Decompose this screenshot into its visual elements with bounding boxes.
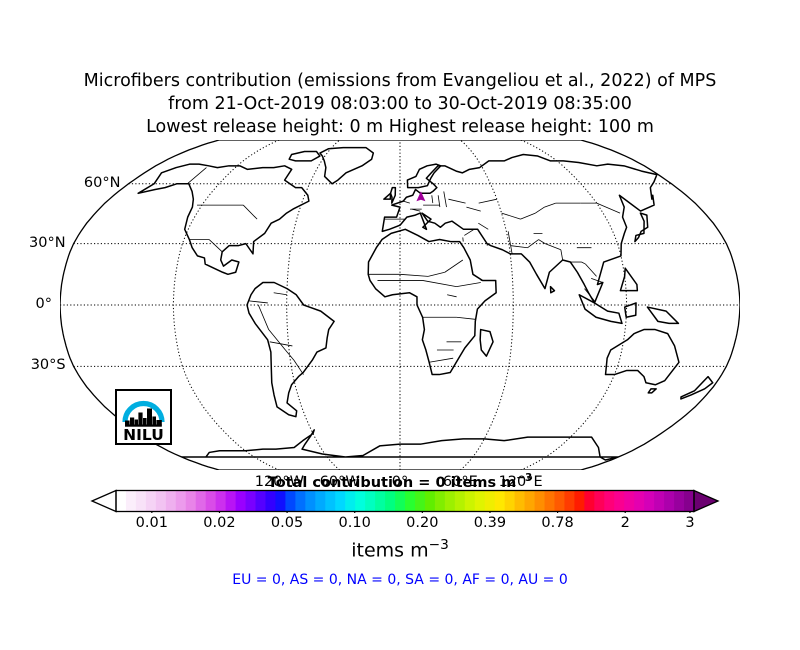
colorbar-segment bbox=[305, 491, 315, 512]
colorbar-segment bbox=[475, 491, 485, 512]
colorbar-units-exponent: −3 bbox=[429, 537, 449, 553]
nilu-logo: NILU bbox=[115, 389, 172, 445]
colorbar-segment bbox=[405, 491, 415, 512]
colorbar-tick-label: 3 bbox=[685, 515, 694, 531]
colorbar-segment bbox=[186, 491, 196, 512]
colorbar-segment bbox=[415, 491, 425, 512]
lat-label-30n: 30°N bbox=[29, 235, 66, 251]
colorbar-segment bbox=[176, 491, 186, 512]
colorbar-units-text: items m bbox=[351, 539, 428, 561]
colorbar-segment bbox=[166, 491, 176, 512]
colorbar-segment bbox=[425, 491, 435, 512]
lat-label-30s: 30°S bbox=[31, 357, 66, 373]
title-line-2: from 21-Oct-2019 08:03:00 to 30-Oct-2019… bbox=[0, 93, 800, 116]
colorbar-tick-label: 0.05 bbox=[271, 515, 303, 531]
colorbar-segment bbox=[345, 491, 355, 512]
nilu-logo-graphic: NILU bbox=[117, 391, 170, 443]
colorbar-segment bbox=[594, 491, 604, 512]
colorbar-segment bbox=[375, 491, 385, 512]
title-line-3: Lowest release height: 0 m Highest relea… bbox=[0, 116, 800, 139]
colorbar-segment bbox=[395, 491, 405, 512]
colorbar-segment bbox=[285, 491, 295, 512]
colorbar-segment bbox=[455, 491, 465, 512]
colorbar-segment bbox=[385, 491, 395, 512]
colorbar-segment bbox=[614, 491, 624, 512]
title-line-1: Microfibers contribution (emissions from… bbox=[0, 70, 800, 93]
colorbar-segment bbox=[246, 491, 256, 512]
total-contribution-exponent: −3 bbox=[516, 472, 532, 484]
lat-label-0: 0° bbox=[36, 296, 52, 312]
colorbar-tick-label: 2 bbox=[621, 515, 630, 531]
colorbar-segment bbox=[515, 491, 525, 512]
colorbar-segment bbox=[654, 491, 664, 512]
colorbar-segment bbox=[256, 491, 266, 512]
colorbar-segment bbox=[156, 491, 166, 512]
colorbar-segment bbox=[196, 491, 206, 512]
colorbar-graphic[interactable] bbox=[90, 489, 720, 513]
colorbar-segment bbox=[545, 491, 555, 512]
colorbar-segment bbox=[624, 491, 634, 512]
colorbar-over-arrow bbox=[694, 491, 718, 512]
colorbar-segment bbox=[216, 491, 226, 512]
colorbar-segment bbox=[355, 491, 365, 512]
colorbar-segment bbox=[116, 491, 126, 512]
colorbar-segment bbox=[335, 491, 345, 512]
colorbar-tick-label: 0.10 bbox=[339, 515, 371, 531]
colorbar-segment bbox=[325, 491, 335, 512]
figure-title: Microfibers contribution (emissions from… bbox=[0, 70, 800, 139]
colorbar-segment bbox=[674, 491, 684, 512]
colorbar-segment bbox=[435, 491, 445, 512]
colorbar-segment bbox=[275, 491, 285, 512]
colorbar-segments bbox=[116, 491, 694, 512]
colorbar-segment bbox=[206, 491, 216, 512]
colorbar-segment bbox=[664, 491, 674, 512]
colorbar-segment bbox=[495, 491, 505, 512]
colorbar-segment bbox=[465, 491, 475, 512]
colorbar-tick-label: 0.78 bbox=[541, 515, 573, 531]
colorbar-segment bbox=[634, 491, 644, 512]
nilu-logo-text: NILU bbox=[123, 426, 164, 443]
colorbar-segment bbox=[295, 491, 305, 512]
colorbar-segment bbox=[445, 491, 455, 512]
total-contribution-label: Total contribution = 0 items m−3 bbox=[0, 472, 800, 491]
colorbar-segment bbox=[644, 491, 654, 512]
colorbar-segment bbox=[684, 491, 694, 512]
colorbar-segment bbox=[535, 491, 545, 512]
colorbar-segment bbox=[136, 491, 146, 512]
colorbar-segment bbox=[505, 491, 515, 512]
colorbar-segment bbox=[554, 491, 564, 512]
colorbar-tick-label: 0.01 bbox=[136, 515, 168, 531]
colorbar-segment bbox=[126, 491, 136, 512]
colorbar-tick-label: 0.39 bbox=[474, 515, 506, 531]
lat-label-60n: 60°N bbox=[84, 175, 121, 191]
colorbar-segment bbox=[525, 491, 535, 512]
colorbar-tick-label: 0.20 bbox=[406, 515, 438, 531]
colorbar-tick-labels: 0.010.020.050.100.200.390.7823 bbox=[0, 515, 800, 535]
colorbar-segment bbox=[315, 491, 325, 512]
colorbar-segment bbox=[485, 491, 495, 512]
colorbar-segment bbox=[265, 491, 275, 512]
colorbar-under-arrow bbox=[92, 491, 116, 512]
colorbar-segment bbox=[574, 491, 584, 512]
colorbar-segment bbox=[365, 491, 375, 512]
colorbar-segment bbox=[226, 491, 236, 512]
colorbar[interactable] bbox=[90, 489, 720, 513]
colorbar-segment bbox=[236, 491, 246, 512]
regional-totals-footer: EU = 0, AS = 0, NA = 0, SA = 0, AF = 0, … bbox=[0, 572, 800, 588]
colorbar-segment bbox=[146, 491, 156, 512]
colorbar-axis-title: items m−3 bbox=[0, 537, 800, 561]
colorbar-tick-label: 0.02 bbox=[203, 515, 235, 531]
colorbar-segment bbox=[564, 491, 574, 512]
colorbar-segment bbox=[584, 491, 594, 512]
colorbar-segment bbox=[604, 491, 614, 512]
